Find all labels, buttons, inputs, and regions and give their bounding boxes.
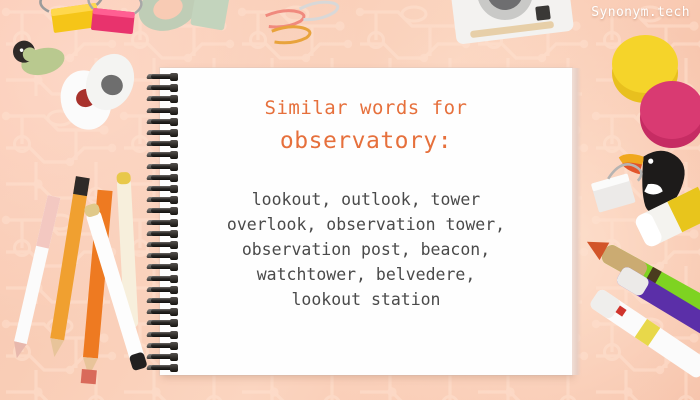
- page-title-prefix: Similar words for: [265, 97, 468, 119]
- pink-macaron: [640, 81, 700, 148]
- brand-logo[interactable]: Synonym.tech: [591, 5, 690, 20]
- synonyms-list: lookout, outlook, tower overlook, observ…: [227, 187, 505, 312]
- oval-erasers: [54, 46, 143, 136]
- bird-eraser: [11, 32, 68, 81]
- page-fold-edge: [572, 68, 581, 375]
- silver-binder-clip: [588, 161, 648, 213]
- query-word: observatory:: [280, 128, 452, 154]
- page-content: Similar words for observatory: lookout, …: [160, 68, 572, 375]
- paper-clips: [265, 0, 339, 44]
- green-sticky-note: [190, 0, 230, 31]
- markers: [588, 265, 700, 380]
- camera: [448, 0, 575, 45]
